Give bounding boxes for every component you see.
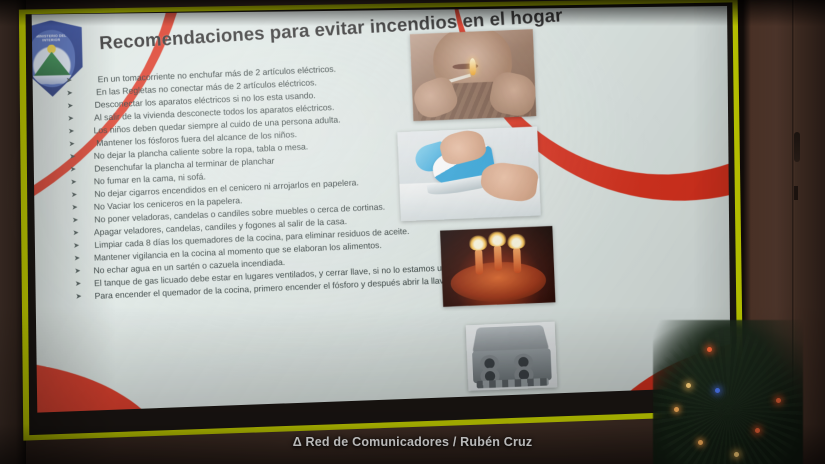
bullet-arrow-icon: ➤ — [74, 254, 84, 266]
emblem-mountain — [32, 51, 71, 77]
bullet-arrow-icon: ➤ — [66, 89, 76, 101]
door-handle-icon[interactable] — [794, 132, 800, 162]
tree-light — [674, 407, 679, 412]
tree-light — [715, 388, 720, 393]
bullet-arrow-icon: ➤ — [71, 203, 81, 215]
photo-man-lighting-cigarette — [410, 29, 536, 121]
photo-gas-stove — [466, 322, 558, 391]
tree-needles — [653, 320, 803, 464]
emblem-sun — [48, 45, 56, 53]
bullet-arrow-icon: ➤ — [70, 178, 80, 190]
photo-candle — [493, 245, 502, 271]
tree-light — [776, 398, 781, 403]
photo-clothes-iron — [397, 126, 540, 221]
bullet-arrow-icon: ➤ — [72, 216, 82, 228]
bullet-arrow-icon: ➤ — [67, 114, 77, 126]
bullet-arrow-icon: ➤ — [70, 165, 80, 177]
bullet-arrow-icon: ➤ — [73, 228, 83, 240]
bullet-arrow-icon: ➤ — [66, 76, 76, 88]
bullet-arrow-icon: ➤ — [73, 241, 83, 253]
emblem-label: MINISTERIO DEL INTERIOR — [30, 34, 72, 43]
tree-light — [707, 347, 712, 352]
tree-light — [755, 428, 760, 433]
tree-light — [686, 383, 691, 388]
presentation-slide: MINISTERIO DEL INTERIOR Recomendaciones … — [26, 6, 732, 434]
bullet-arrow-icon: ➤ — [74, 266, 84, 278]
bullet-arrow-icon: ➤ — [68, 127, 78, 139]
bullet-arrow-icon: ➤ — [69, 139, 79, 151]
photo-candle — [513, 247, 522, 273]
room-scene: MINISTERIO DEL INTERIOR Recomendaciones … — [0, 0, 825, 464]
slide-viewport: MINISTERIO DEL INTERIOR Recomendaciones … — [26, 6, 732, 434]
bullet-arrow-icon: ➤ — [71, 190, 81, 202]
bullet-arrow-icon: ➤ — [75, 279, 85, 291]
bullet-arrow-icon: ➤ — [75, 292, 85, 304]
christmas-tree — [653, 320, 803, 464]
bullet-arrow-icon: ➤ — [67, 101, 77, 113]
bullet-arrow-icon: ➤ — [69, 152, 79, 164]
photo-candle — [475, 249, 484, 275]
ceiling-shadow — [0, 0, 825, 26]
door-latch — [794, 186, 798, 200]
photo-lit-candles — [440, 226, 555, 307]
tree-light — [734, 452, 739, 457]
tree-light — [698, 440, 703, 445]
